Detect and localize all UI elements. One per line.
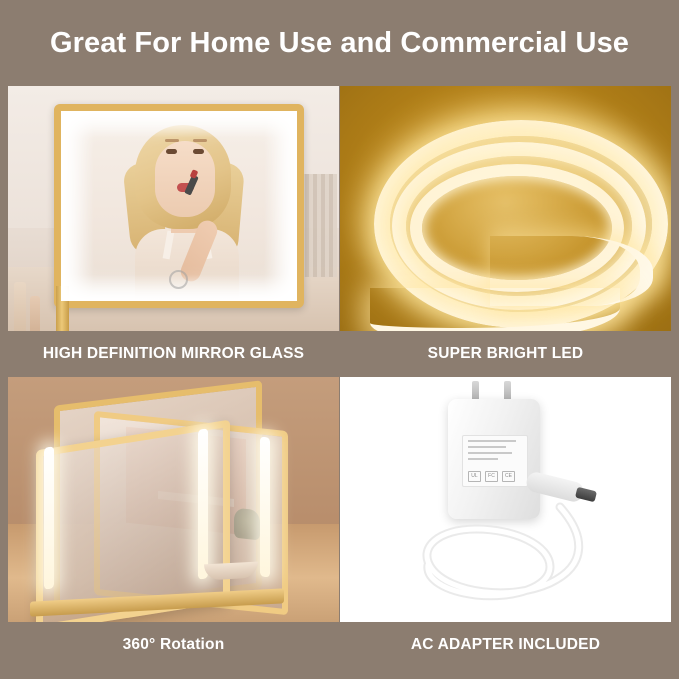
adapter-photo: UL FC CE <box>340 377 671 622</box>
label-line <box>468 440 516 442</box>
eyebrow-left <box>165 139 179 142</box>
panel-adapter: UL FC CE AC ADAPTER INCLUDED <box>340 377 671 667</box>
cosmetic-bottle-1 <box>14 282 26 331</box>
caption-text: 360° Rotation <box>123 636 225 654</box>
led-bar-center <box>198 428 208 580</box>
led-bar-left <box>44 446 54 590</box>
ul-mark-icon: UL <box>468 471 481 482</box>
label-line <box>468 458 498 460</box>
label-line <box>468 452 512 454</box>
adapter-spec-label: UL FC CE <box>462 435 528 487</box>
caption-text: SUPER BRIGHT LED <box>428 345 584 363</box>
mirror-glass-photo <box>8 86 339 331</box>
radiator <box>301 174 337 277</box>
panel-rotation: 360° Rotation <box>8 377 339 667</box>
cosmetic-bottle-2 <box>30 296 40 331</box>
touch-sensor-icon <box>169 270 188 289</box>
led-strip-tail <box>370 288 620 331</box>
led-strip-photo <box>340 86 671 331</box>
power-cord <box>410 495 594 615</box>
caption-adapter: AC ADAPTER INCLUDED <box>340 622 671 667</box>
promo-image-root: Great For Home Use and Commercial Use <box>0 0 679 679</box>
mirror-frame <box>54 104 304 308</box>
caption-mirror-glass: HIGH DEFINITION MIRROR GLASS <box>8 331 339 376</box>
page-title: Great For Home Use and Commercial Use <box>50 27 629 60</box>
ce-mark-icon: CE <box>502 471 515 482</box>
eye-right <box>193 149 204 154</box>
caption-led: SUPER BRIGHT LED <box>340 331 671 376</box>
panel-mirror-glass: HIGH DEFINITION MIRROR GLASS <box>8 86 339 376</box>
mirror-stand-leg <box>56 286 69 331</box>
eyebrow-right <box>193 139 207 142</box>
caption-rotation: 360° Rotation <box>8 622 339 667</box>
led-bar-right <box>260 436 270 577</box>
caption-text: AC ADAPTER INCLUDED <box>411 636 600 654</box>
plug-prong-right <box>504 381 511 401</box>
certification-marks: UL FC CE <box>468 471 515 482</box>
eye-left <box>166 149 177 154</box>
plug-prong-left <box>472 381 479 401</box>
fcc-mark-icon: FC <box>485 471 498 482</box>
panel-led: SUPER BRIGHT LED <box>340 86 671 376</box>
face <box>155 141 215 217</box>
feature-grid: HIGH DEFINITION MIRROR GLASS SUPER BRIGH… <box>8 86 671 666</box>
header-banner: Great For Home Use and Commercial Use <box>0 0 679 86</box>
caption-text: HIGH DEFINITION MIRROR GLASS <box>43 345 304 363</box>
label-line <box>468 446 506 448</box>
rotation-photo <box>8 377 339 622</box>
